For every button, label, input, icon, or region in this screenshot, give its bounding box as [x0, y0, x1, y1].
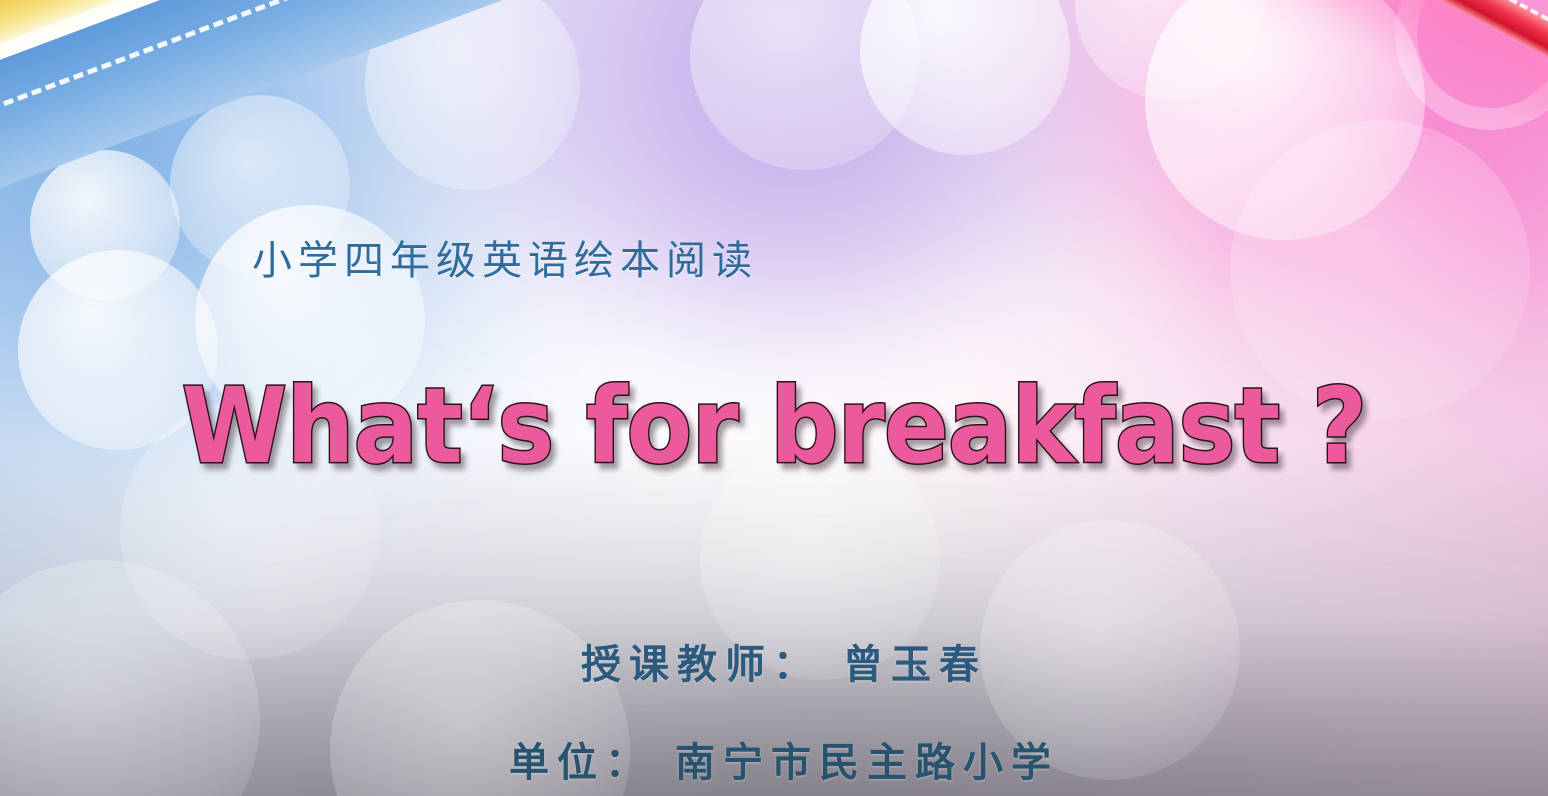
byline-teacher: 授课教师： 曾玉春	[0, 632, 1548, 690]
slide-subtitle: 小学四年级英语绘本阅读	[252, 228, 758, 286]
byline-school: 单位： 南宁市民主路小学	[0, 730, 1548, 788]
bokeh-circle	[30, 150, 180, 300]
presentation-slide: 小学四年级英语绘本阅读 What‘s for breakfast ? 授课教师：…	[0, 0, 1548, 796]
bokeh-circle	[860, 0, 1070, 155]
slide-main-title: What‘s for breakfast ?	[62, 372, 1486, 481]
bokeh-circle	[1075, 0, 1265, 100]
diagonal-ribbon-top-left	[0, 0, 870, 220]
ribbon-band-blue	[0, 0, 879, 244]
diagonal-ribbon-top-right	[1248, 0, 1548, 180]
bokeh-circle	[690, 0, 920, 170]
